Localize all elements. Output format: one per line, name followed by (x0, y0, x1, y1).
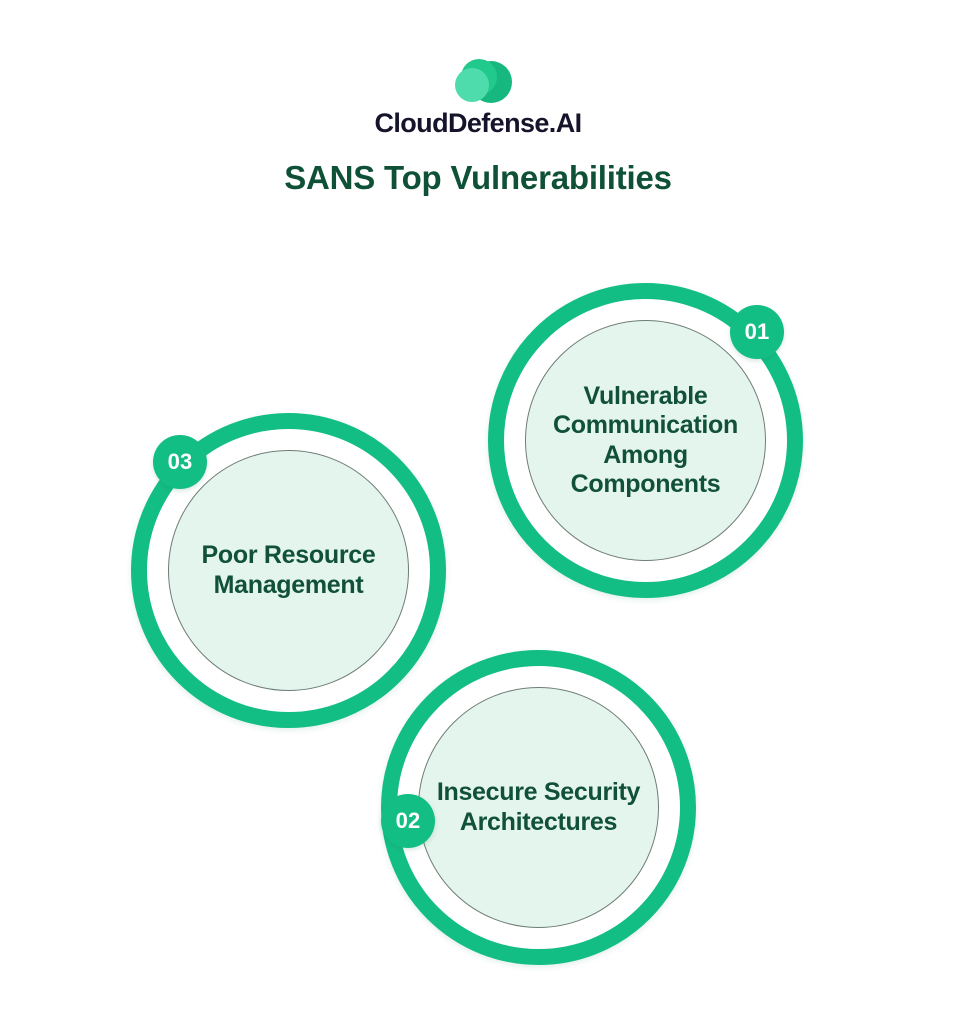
node-inner-03: Poor Resource Management (168, 450, 409, 691)
diagram-node-02[interactable]: Insecure Security Architectures 02 (381, 650, 696, 965)
node-label-03: Poor Resource Management (169, 541, 408, 600)
node-label-01: Vulnerable Communication Among Component… (526, 382, 765, 499)
node-badge-03: 03 (153, 435, 207, 489)
vulnerabilities-circle-diagram: Poor Resource Management 03 Vulnerable C… (0, 0, 956, 1024)
node-label-02: Insecure Security Architectures (419, 778, 658, 837)
node-badge-01: 01 (730, 305, 784, 359)
node-badge-02: 02 (381, 794, 435, 848)
diagram-node-03[interactable]: Poor Resource Management 03 (131, 413, 446, 728)
node-inner-01: Vulnerable Communication Among Component… (525, 320, 766, 561)
node-inner-02: Insecure Security Architectures (418, 687, 659, 928)
diagram-node-01[interactable]: Vulnerable Communication Among Component… (488, 283, 803, 598)
